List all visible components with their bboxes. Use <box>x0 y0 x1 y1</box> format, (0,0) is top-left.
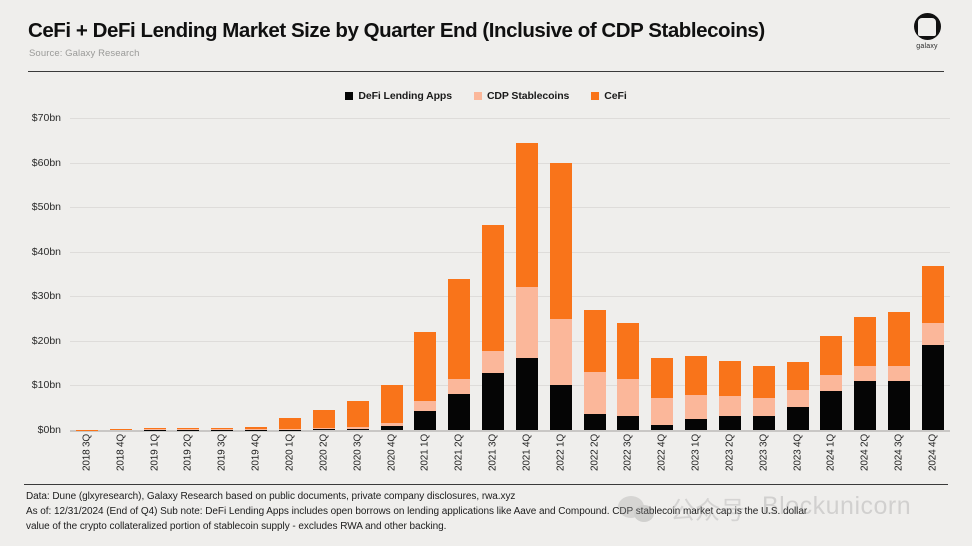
bar-column[interactable] <box>408 120 442 430</box>
x-axis-tick-label: 2021 1Q <box>420 434 431 471</box>
x-axis-tick-label: 2019 4Q <box>251 434 262 471</box>
bar-stack <box>854 317 876 430</box>
bar-segment-cefi <box>617 323 639 378</box>
bar-column[interactable] <box>104 120 138 430</box>
x-axis-label-cell: 2021 3Q <box>476 434 510 482</box>
bar-segment-cefi <box>685 356 707 394</box>
bar-segment-defi-lending-apps <box>651 425 673 430</box>
bar-segment-defi-lending-apps <box>617 416 639 430</box>
x-axis-label-cell: 2021 2Q <box>442 434 476 482</box>
x-axis-tick-label: 2024 2Q <box>860 434 871 471</box>
x-axis-tick-label: 2020 1Q <box>284 434 295 471</box>
bar-segment-cdp-stablecoins <box>922 323 944 344</box>
footnote-line-2: As of: 12/31/2024 (End of Q4) Sub note: … <box>26 505 956 520</box>
bar-segment-cdp-stablecoins <box>719 396 741 417</box>
x-axis-tick-label: 2018 3Q <box>81 434 92 471</box>
y-axis-tick-label: $10bn <box>32 379 61 391</box>
bar-segment-defi-lending-apps <box>753 416 775 430</box>
bar-stack <box>279 418 301 430</box>
x-axis-tick-label: 2020 3Q <box>352 434 363 471</box>
axis-baseline <box>70 430 950 432</box>
x-axis-tick-label: 2021 2Q <box>454 434 465 471</box>
bar-column[interactable] <box>510 120 544 430</box>
bar-stack <box>584 310 606 430</box>
bar-segment-cefi <box>414 332 436 402</box>
x-axis-tick-label: 2020 4Q <box>386 434 397 471</box>
x-axis-tick-label: 2023 1Q <box>691 434 702 471</box>
bar-segment-cefi <box>787 362 809 390</box>
bar-column[interactable] <box>679 120 713 430</box>
bar-stack <box>448 279 470 430</box>
x-axis-tick-label: 2022 2Q <box>589 434 600 471</box>
x-axis-label-cell: 2020 2Q <box>307 434 341 482</box>
bar-column[interactable] <box>138 120 172 430</box>
x-axis-label-cell: 2019 2Q <box>172 434 206 482</box>
bar-segment-defi-lending-apps <box>922 345 944 430</box>
chart-header: CeFi + DeFi Lending Market Size by Quart… <box>0 0 972 72</box>
legend-item[interactable]: CeFi <box>591 90 626 102</box>
bar-segment-cdp-stablecoins <box>584 372 606 414</box>
bar-stack <box>110 429 132 430</box>
bar-column[interactable] <box>612 120 646 430</box>
bar-column[interactable] <box>273 120 307 430</box>
x-axis-label-cell: 2020 4Q <box>375 434 409 482</box>
bar-column[interactable] <box>645 120 679 430</box>
bar-column[interactable] <box>544 120 578 430</box>
bar-column[interactable] <box>375 120 409 430</box>
x-axis-tick-label: 2023 2Q <box>724 434 735 471</box>
bar-stack <box>651 358 673 430</box>
y-axis-tick-label: $30bn <box>32 290 61 302</box>
bar-column[interactable] <box>815 120 849 430</box>
bar-stack <box>313 410 335 430</box>
x-axis-label-cell: 2019 1Q <box>138 434 172 482</box>
x-axis-label-cell: 2019 3Q <box>205 434 239 482</box>
bar-stack <box>245 427 267 430</box>
bar-segment-defi-lending-apps <box>448 394 470 430</box>
bar-segment-cdp-stablecoins <box>787 390 809 407</box>
bar-segment-defi-lending-apps <box>516 358 538 430</box>
y-axis-tick-label: $70bn <box>32 112 61 124</box>
bar-stack <box>550 163 572 430</box>
bar-segment-cdp-stablecoins <box>516 287 538 358</box>
bar-segment-cefi <box>854 317 876 366</box>
x-axis-label-cell: 2020 1Q <box>273 434 307 482</box>
bar-segment-cdp-stablecoins <box>820 375 842 391</box>
x-axis-label-cell: 2023 1Q <box>679 434 713 482</box>
y-axis-tick-label: $40bn <box>32 246 61 258</box>
bar-column[interactable] <box>747 120 781 430</box>
bar-stack <box>787 362 809 430</box>
bar-segment-cefi <box>381 385 403 424</box>
header-divider <box>28 71 944 72</box>
x-axis-label-cell: 2024 3Q <box>882 434 916 482</box>
x-axis-label-cell: 2018 3Q <box>70 434 104 482</box>
bar-stack <box>414 332 436 430</box>
bar-stack <box>719 361 741 430</box>
bar-segment-cefi <box>820 336 842 374</box>
bar-column[interactable] <box>882 120 916 430</box>
bar-column[interactable] <box>172 120 206 430</box>
gridline <box>70 118 950 119</box>
x-axis-tick-label: 2024 4Q <box>928 434 939 471</box>
bar-segment-defi-lending-apps <box>482 373 504 430</box>
x-axis-label-cell: 2018 4Q <box>104 434 138 482</box>
x-axis-labels: 2018 3Q2018 4Q2019 1Q2019 2Q2019 3Q2019 … <box>70 434 950 482</box>
bar-segment-cefi <box>110 429 132 430</box>
x-axis-label-cell: 2022 3Q <box>612 434 646 482</box>
page-title: CeFi + DeFi Lending Market Size by Quart… <box>28 19 765 43</box>
bar-segment-cefi <box>651 358 673 398</box>
bar-segment-cefi <box>313 410 335 429</box>
x-axis-label-cell: 2024 2Q <box>848 434 882 482</box>
bar-column[interactable] <box>713 120 747 430</box>
x-axis-tick-label: 2019 3Q <box>217 434 228 471</box>
bar-stack <box>617 323 639 430</box>
galaxy-logo: galaxy <box>904 13 950 50</box>
bar-segment-cdp-stablecoins <box>888 366 910 381</box>
bar-series-container <box>70 120 950 430</box>
bar-stack <box>347 401 369 430</box>
bar-stack <box>753 366 775 430</box>
x-axis-tick-label: 2023 4Q <box>792 434 803 471</box>
bar-segment-defi-lending-apps <box>888 381 910 430</box>
bar-column[interactable] <box>307 120 341 430</box>
bar-segment-cdp-stablecoins <box>685 395 707 420</box>
bar-column[interactable] <box>848 120 882 430</box>
footer-divider <box>24 484 948 485</box>
bar-segment-cefi <box>279 418 301 428</box>
bar-segment-cefi <box>516 143 538 287</box>
footnote: Data: Dune (glxyresearch), Galaxy Resear… <box>26 490 956 534</box>
bar-segment-defi-lending-apps <box>787 407 809 430</box>
bar-segment-defi-lending-apps <box>381 426 403 430</box>
bar-segment-cefi <box>448 279 470 379</box>
x-axis-tick-label: 2024 1Q <box>826 434 837 471</box>
y-axis-tick-label: $60bn <box>32 157 61 169</box>
bar-segment-defi-lending-apps <box>820 391 842 430</box>
x-axis-tick-label: 2022 3Q <box>623 434 634 471</box>
bar-stack <box>144 428 166 430</box>
bar-segment-defi-lending-apps <box>550 385 572 430</box>
y-axis-tick-label: $20bn <box>32 335 61 347</box>
bar-segment-cdp-stablecoins <box>448 379 470 394</box>
x-axis-tick-label: 2018 4Q <box>115 434 126 471</box>
bar-segment-cefi <box>347 401 369 428</box>
bar-segment-cefi <box>482 225 504 351</box>
legend-swatch-icon <box>474 92 482 100</box>
x-axis-label-cell: 2022 1Q <box>544 434 578 482</box>
bar-segment-cdp-stablecoins <box>753 398 775 416</box>
bar-segment-cefi <box>888 312 910 365</box>
footnote-line-1: Data: Dune (glxyresearch), Galaxy Resear… <box>26 490 956 505</box>
legend-swatch-icon <box>345 92 353 100</box>
bar-segment-cdp-stablecoins <box>550 319 572 386</box>
bar-segment-defi-lending-apps <box>719 416 741 430</box>
bar-column[interactable] <box>578 120 612 430</box>
x-axis-label-cell: 2024 4Q <box>916 434 950 482</box>
bar-segment-cefi <box>753 366 775 398</box>
galaxy-logo-icon <box>914 13 941 40</box>
x-axis-label-cell: 2023 2Q <box>713 434 747 482</box>
x-axis-tick-label: 2020 2Q <box>318 434 329 471</box>
bar-column[interactable] <box>341 120 375 430</box>
x-axis-tick-label: 2019 1Q <box>149 434 160 471</box>
bar-segment-cdp-stablecoins <box>482 351 504 374</box>
bar-segment-cefi <box>922 266 944 323</box>
x-axis-tick-label: 2023 3Q <box>758 434 769 471</box>
galaxy-logo-label: galaxy <box>904 43 950 50</box>
bar-segment-cdp-stablecoins <box>651 398 673 425</box>
x-axis-label-cell: 2022 2Q <box>578 434 612 482</box>
bar-segment-cefi <box>550 163 572 319</box>
x-axis-label-cell: 2019 4Q <box>239 434 273 482</box>
chart-page: CeFi + DeFi Lending Market Size by Quart… <box>0 0 972 546</box>
bar-segment-cefi <box>719 361 741 395</box>
legend-item-label: CeFi <box>604 90 626 102</box>
bar-column[interactable] <box>205 120 239 430</box>
bar-stack <box>820 336 842 430</box>
y-axis-tick-label: $50bn <box>32 201 61 213</box>
bar-stack <box>177 428 199 430</box>
bar-segment-defi-lending-apps <box>313 429 335 430</box>
chart-legend: DeFi Lending AppsCDP StablecoinsCeFi <box>0 90 972 102</box>
legend-swatch-icon <box>591 92 599 100</box>
legend-item-label: DeFi Lending Apps <box>358 90 452 102</box>
bar-stack <box>516 143 538 430</box>
bar-stack <box>685 356 707 430</box>
y-axis-tick-label: $0bn <box>38 424 61 436</box>
bar-segment-defi-lending-apps <box>347 429 369 430</box>
chart-plot-area: $70bn$60bn$50bn$40bn$30bn$20bn$10bn$0bn <box>70 118 950 430</box>
bar-column[interactable] <box>239 120 273 430</box>
bar-segment-defi-lending-apps <box>584 414 606 430</box>
x-axis-label-cell: 2024 1Q <box>815 434 849 482</box>
legend-item-label: CDP Stablecoins <box>487 90 569 102</box>
x-axis-tick-label: 2021 4Q <box>521 434 532 471</box>
bar-segment-cdp-stablecoins <box>854 366 876 381</box>
bar-stack <box>888 312 910 430</box>
x-axis-label-cell: 2020 3Q <box>341 434 375 482</box>
bar-column[interactable] <box>442 120 476 430</box>
x-axis-label-cell: 2021 4Q <box>510 434 544 482</box>
x-axis-label-cell: 2021 1Q <box>408 434 442 482</box>
bar-column[interactable] <box>70 120 104 430</box>
bar-segment-defi-lending-apps <box>685 419 707 430</box>
x-axis-tick-label: 2024 3Q <box>894 434 905 471</box>
bar-segment-defi-lending-apps <box>414 411 436 430</box>
x-axis-label-cell: 2022 4Q <box>645 434 679 482</box>
footnote-line-3: value of the crypto collateralized porti… <box>26 520 956 535</box>
bar-segment-cdp-stablecoins <box>414 401 436 410</box>
x-axis-label-cell: 2023 3Q <box>747 434 781 482</box>
legend-item[interactable]: DeFi Lending Apps <box>345 90 452 102</box>
bar-column[interactable] <box>476 120 510 430</box>
bar-stack <box>381 385 403 430</box>
bar-column[interactable] <box>916 120 950 430</box>
x-axis-tick-label: 2022 1Q <box>555 434 566 471</box>
x-axis-tick-label: 2019 2Q <box>183 434 194 471</box>
source-caption: Source: Galaxy Research <box>29 48 140 59</box>
bar-stack <box>211 428 233 430</box>
bar-stack <box>482 225 504 430</box>
bar-column[interactable] <box>781 120 815 430</box>
bar-segment-cdp-stablecoins <box>617 379 639 416</box>
bar-segment-cefi <box>584 310 606 372</box>
x-axis-tick-label: 2022 4Q <box>657 434 668 471</box>
x-axis-tick-label: 2021 3Q <box>488 434 499 471</box>
bar-stack <box>922 266 944 430</box>
legend-item[interactable]: CDP Stablecoins <box>474 90 569 102</box>
x-axis-label-cell: 2023 4Q <box>781 434 815 482</box>
bar-segment-defi-lending-apps <box>854 381 876 430</box>
